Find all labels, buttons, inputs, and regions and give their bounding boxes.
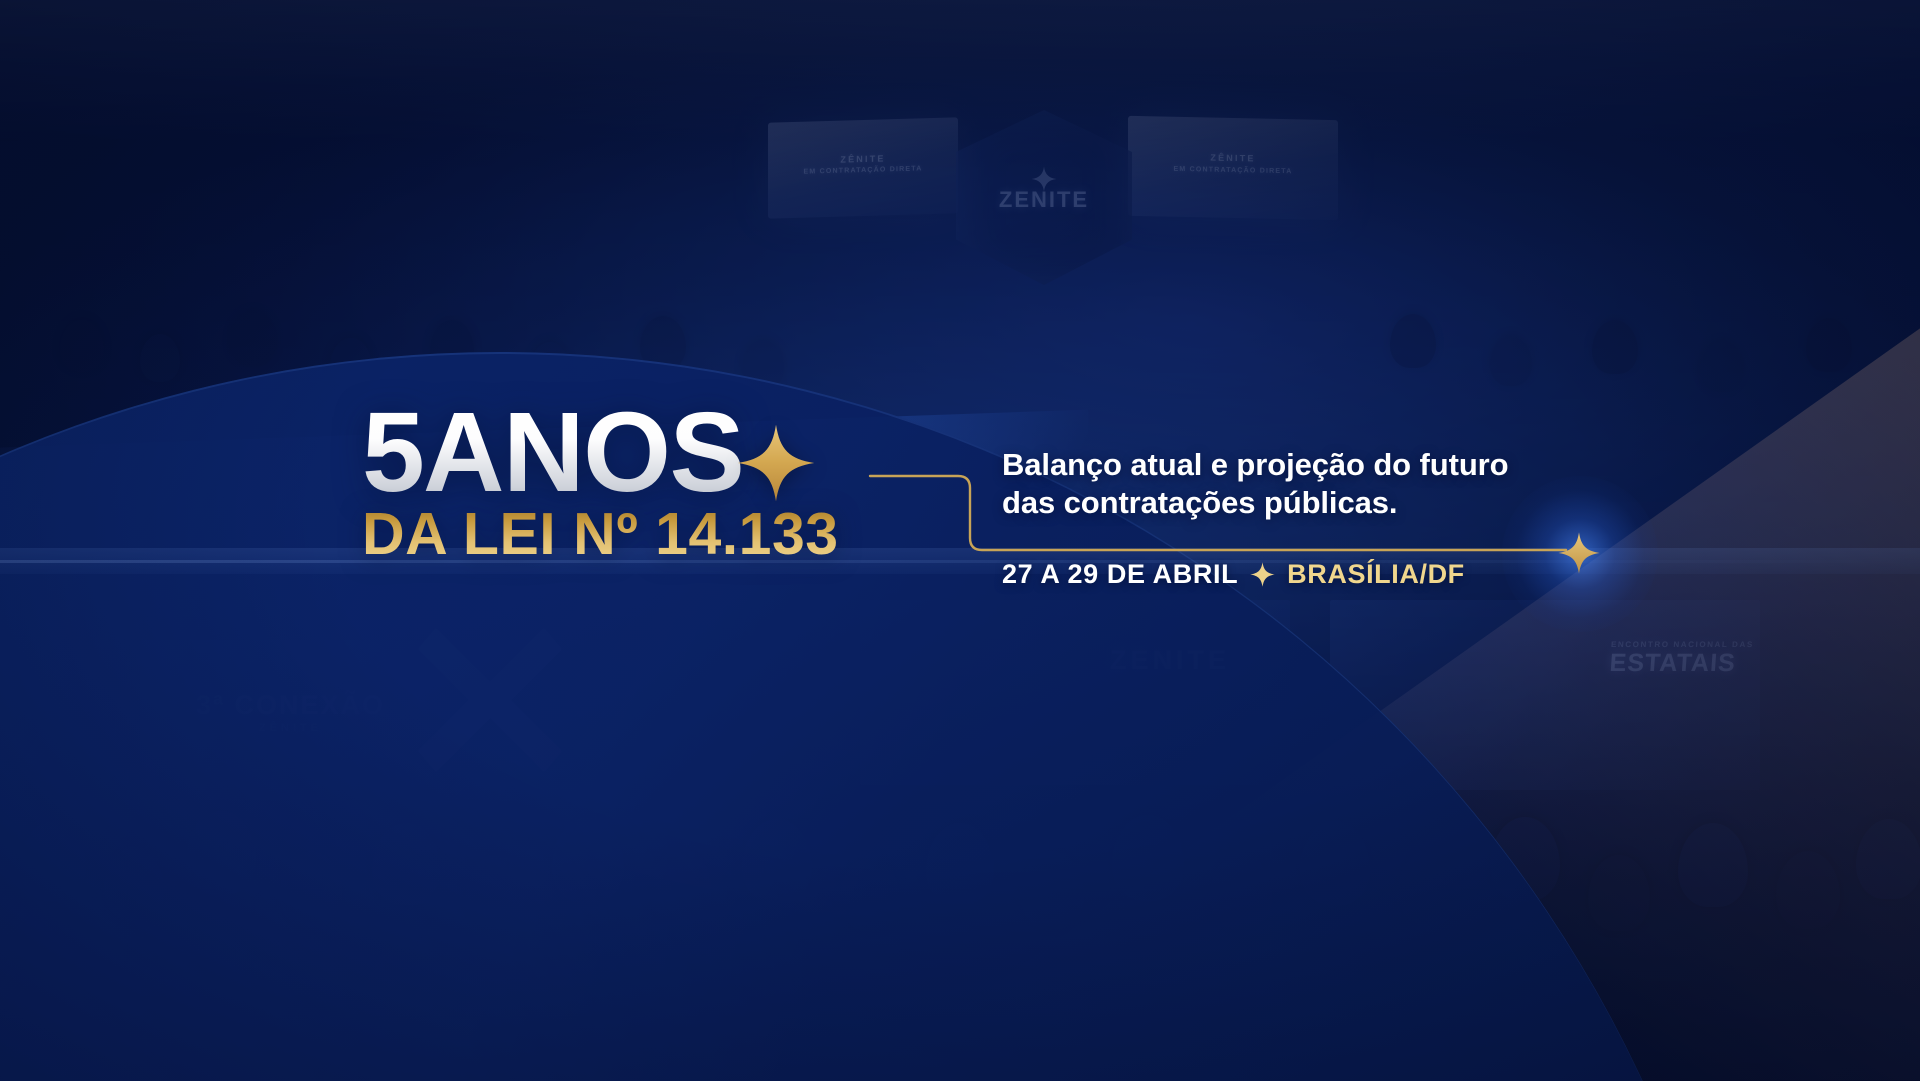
zenite-star-icon [1558,532,1600,574]
tagline-line-2: das contratações públicas. [1002,484,1508,522]
tagline-block: Balanço atual e projeção do futuro das c… [1002,446,1508,590]
headline-anos: 5ANOS [362,398,743,506]
headline-subline: DA LEI Nº 14.133 [362,500,839,568]
event-dates: 27 A 29 DE ABRIL [1002,559,1238,590]
headline-block: 5ANOS DA LEI Nº 14.133 [362,398,839,568]
headline-main-row: 5ANOS [362,398,839,506]
zenite-star-icon [1250,562,1275,587]
banner-content: 5ANOS DA LEI Nº 14.133 Balanço atual e p… [0,0,1920,1081]
event-location: BRASÍLIA/DF [1287,559,1465,590]
headline-number: 5 [362,389,423,515]
tagline-line-1: Balanço atual e projeção do futuro [1002,446,1508,484]
event-details: 27 A 29 DE ABRIL BRASÍLIA/DF [1002,559,1508,590]
event-banner: ZÊNITE EM CONTRATAÇÃO DIRETA ZÊNITE EM C… [0,0,1920,1081]
headline-word: ANOS [423,389,743,515]
zenite-star-icon [737,424,815,502]
